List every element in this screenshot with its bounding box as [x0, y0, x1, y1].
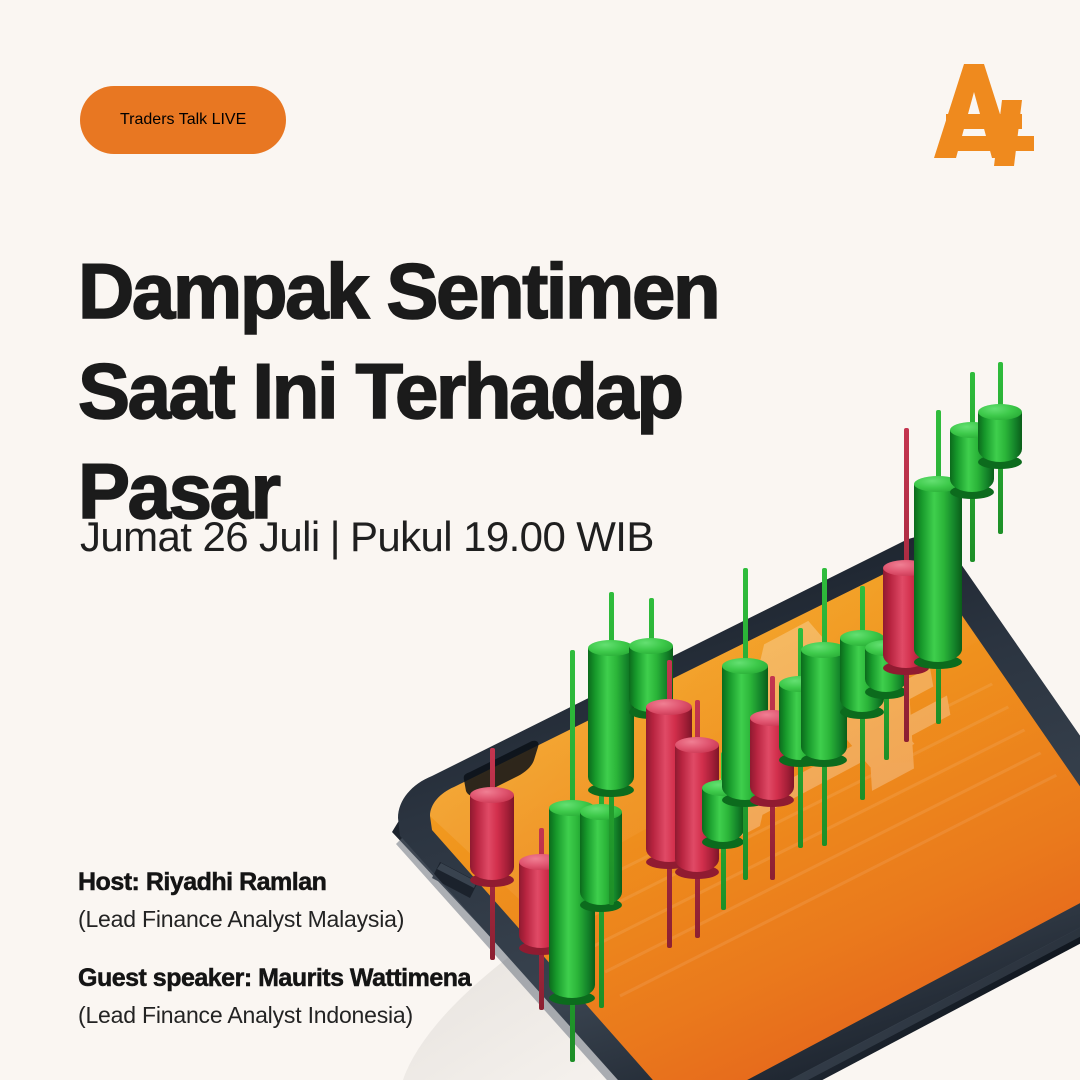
candle-bearish-10	[750, 676, 794, 880]
candle-body	[801, 650, 847, 760]
candle-body-top	[865, 640, 907, 656]
candle-body-tube	[549, 808, 595, 998]
brand-a-logo-icon	[928, 56, 1040, 166]
candle-body-top	[950, 422, 994, 438]
credit-guest: Guest speaker: Maurits Wattimena (Lead F…	[78, 962, 548, 1032]
candle-body	[978, 412, 1022, 462]
candle-body-bottom	[629, 705, 673, 719]
host-role: (Lead Finance Analyst Malaysia)	[78, 903, 548, 936]
speaker-credits: Host: Riyadhi Ramlan (Lead Finance Analy…	[78, 866, 548, 1032]
candle-wick	[743, 568, 748, 880]
candle-bullish-14	[865, 600, 907, 760]
candle-bearish-6	[646, 660, 692, 948]
headline-line-1: Dampak Sentimen	[78, 242, 798, 342]
candle-body-bottom	[588, 783, 634, 797]
schedule-separator: |	[330, 513, 340, 561]
candle-wick	[998, 362, 1003, 534]
candle-body	[840, 638, 884, 712]
schedule-time: Pukul 19.00 WIB	[350, 513, 654, 560]
candle-body-top	[470, 787, 514, 803]
candle-wick	[721, 752, 726, 910]
candle-body-top	[702, 780, 744, 796]
candle-body-top	[750, 710, 794, 726]
candle-body-bottom	[779, 753, 821, 767]
candle-body-bottom	[914, 655, 962, 669]
candle-body-tube	[914, 484, 962, 662]
candle-bullish-13	[840, 586, 884, 800]
candle-bullish-5	[629, 598, 673, 832]
candle-wick	[884, 600, 889, 760]
candle-body-bottom	[675, 865, 719, 879]
candle-bullish-3	[580, 700, 622, 1008]
promo-poster: Traders Talk LIVE Dampak Sentimen Saat I…	[0, 0, 1080, 1080]
candle-body-top	[978, 404, 1022, 420]
candle-wick	[695, 700, 700, 938]
brand-a-watermark-icon	[560, 560, 1080, 996]
live-badge[interactable]: Traders Talk LIVE	[80, 86, 286, 154]
candle-body	[722, 666, 768, 800]
candle-wick	[770, 676, 775, 880]
candle-body-top	[914, 476, 962, 492]
candle-body-bottom	[865, 685, 907, 699]
candle-body-bottom	[722, 793, 768, 807]
candle-body	[950, 430, 994, 492]
candle-body	[883, 568, 929, 668]
headline-line-2: Saat Ini Terhadap	[78, 342, 798, 442]
candle-wick	[599, 700, 604, 1008]
page-title: Dampak Sentimen Saat Ini Terhadap Pasar	[78, 242, 798, 541]
candle-body-tube	[702, 788, 744, 842]
candle-wick	[798, 628, 803, 848]
candle-body	[580, 812, 622, 905]
candle-body-top	[675, 737, 719, 753]
candle-wick	[860, 586, 865, 800]
candle-bullish-18	[978, 362, 1022, 534]
candle-body-bottom	[750, 793, 794, 807]
candle-body-top	[722, 658, 768, 674]
candle-body-tube	[629, 646, 673, 712]
candle-body-bottom	[646, 855, 692, 869]
candle-body-top	[580, 804, 622, 820]
host-name: Host: Riyadhi Ramlan	[78, 866, 548, 900]
candle-body-tube	[750, 718, 794, 800]
candle-body-top	[883, 560, 929, 576]
guest-name: Guest speaker: Maurits Wattimena	[78, 962, 548, 996]
candle-bullish-12	[801, 568, 847, 846]
candle-body	[914, 484, 962, 662]
candle-body-tube	[675, 745, 719, 872]
candle-bullish-4	[588, 592, 634, 905]
candle-wick	[667, 660, 672, 948]
candle-body-tube	[646, 707, 692, 862]
candle-body-bottom	[549, 991, 595, 1005]
candle-body	[549, 808, 595, 998]
candle-bullish-16	[914, 410, 962, 724]
candle-bullish-9	[722, 568, 768, 880]
candle-body	[675, 745, 719, 872]
candle-body	[779, 684, 821, 760]
candle-wick	[649, 598, 654, 832]
candle-body-top	[840, 630, 884, 646]
candle-wick	[970, 372, 975, 562]
candle-body-tube	[883, 568, 929, 668]
candle-body-bottom	[702, 835, 744, 849]
candle-wick	[822, 568, 827, 846]
schedule-date: Jumat 26 Juli	[80, 513, 320, 560]
credit-host: Host: Riyadhi Ramlan (Lead Finance Analy…	[78, 866, 548, 936]
candle-body-tube	[779, 684, 821, 760]
candle-body-top	[588, 640, 634, 656]
candle-body-top	[549, 800, 595, 816]
candle-body	[588, 648, 634, 790]
candle-body-tube	[840, 638, 884, 712]
candle-body-tube	[950, 430, 994, 492]
candle-wick	[936, 410, 941, 724]
candle-bullish-2	[549, 650, 595, 1062]
live-badge-label: Traders Talk LIVE	[120, 111, 246, 129]
candle-body-tube	[722, 666, 768, 800]
candle-body-bottom	[950, 485, 994, 499]
candle-wick	[904, 428, 909, 742]
candle-wick	[570, 650, 575, 1062]
candle-body-bottom	[978, 455, 1022, 469]
candle-bullish-17	[950, 372, 994, 562]
candle-body	[629, 646, 673, 712]
candle-body-tube	[865, 648, 907, 692]
candle-body	[646, 707, 692, 862]
candle-body-top	[646, 699, 692, 715]
schedule-line: Jumat 26 Juli|Pukul 19.00 WIB	[80, 513, 654, 561]
candle-body-tube	[978, 412, 1022, 462]
candle-body	[865, 648, 907, 692]
guest-role: (Lead Finance Analyst Indonesia)	[78, 999, 548, 1032]
candle-body-bottom	[840, 705, 884, 719]
candle-body-tube	[580, 812, 622, 905]
candle-body-tube	[801, 650, 847, 760]
candle-bearish-15	[883, 428, 929, 742]
candle-bullish-8	[702, 752, 744, 910]
candle-body-top	[629, 638, 673, 654]
candle-body-top	[779, 676, 821, 692]
candle-body-bottom	[580, 898, 622, 912]
candle-body	[750, 718, 794, 800]
candle-wick	[609, 592, 614, 905]
candle-body-top	[801, 642, 847, 658]
candle-bearish-7	[675, 700, 719, 938]
candle-body-bottom	[801, 753, 847, 767]
candle-bullish-11	[779, 628, 821, 848]
candle-body-bottom	[883, 661, 929, 675]
candle-body-tube	[588, 648, 634, 790]
candle-body	[702, 788, 744, 842]
